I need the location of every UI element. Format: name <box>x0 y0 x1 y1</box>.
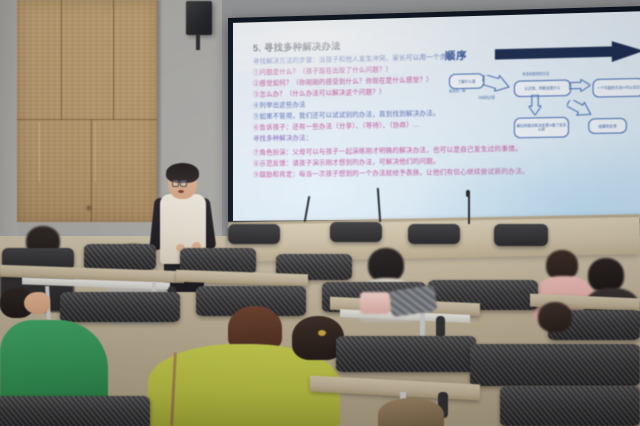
attendee-hand <box>24 292 50 314</box>
desk-bracket <box>436 316 445 338</box>
lecture-hall-photo: 5. 寻找多种解决办法 寻找解决方法的步骤：当孩子和他人发生冲突、家长可以用一个… <box>0 0 640 426</box>
attendee-head <box>378 398 444 426</box>
diagram-label: 顺序 <box>445 47 468 63</box>
diagram-caption: 中间的过程 <box>478 94 495 99</box>
slide-line: 寻找多种解决办法： <box>253 135 312 143</box>
seat-back <box>0 396 150 426</box>
diagram-caption: 原本的一种 <box>449 88 466 93</box>
block-arrow-down-icon <box>529 95 542 116</box>
slide-line: ⑥告诉孩子：还有一些办法（分享）、（等待）、（协商）… <box>253 122 420 132</box>
presenter-mouth <box>178 190 184 193</box>
seat-back <box>470 344 640 386</box>
diagram-box: 结果的反馈 <box>588 118 627 134</box>
diagram-box: 认识到、判断这是什么 <box>514 79 571 97</box>
diagram-caption: 考虑和想到的方法 <box>522 71 549 77</box>
wall-left-strip <box>0 0 18 240</box>
slide-line: ⑨鼓励和肯定：每当一次孩子想到的一个办法就给予表扬，让他们有信心继续尝试新的办法… <box>253 168 529 179</box>
slide-flow-diagram: 顺序 了解什么是 认识到、判断这是什么 一个可能的方法\n可以试试 最后的做法和… <box>436 34 640 162</box>
speaker-mount <box>196 34 200 50</box>
microphone <box>468 196 470 224</box>
slide-content: 5. 寻找多种解决办法 寻找解决方法的步骤：当孩子和他人发生冲突、家长可以用一个… <box>233 11 640 221</box>
wall-speaker-icon <box>186 1 212 35</box>
slide-line: 寻找解决方法的步骤：当孩子和他人发生冲突、家长可以用一个步骤： <box>253 53 460 65</box>
slide-line: ⑧示范反馈：请孩子演示刚才想到的办法，可解决他们的问题。 <box>253 158 440 168</box>
diagram-box: 了解什么是 <box>449 73 485 89</box>
glasses-bridge <box>177 182 180 183</box>
slide-line: ③怎么办？（什么办法可以解决这个问题？） <box>253 89 386 99</box>
door-jamb-shadow <box>157 0 162 230</box>
seat-back <box>336 336 476 372</box>
large-right-arrow-icon <box>495 40 640 64</box>
seat-headrest <box>330 222 382 242</box>
slide-line: ①问题是什么？（孩子现在出现了什么问题？） <box>253 66 392 76</box>
block-arrow-icon <box>567 100 593 117</box>
block-arrow-icon <box>569 79 590 92</box>
hair-clip <box>318 330 326 336</box>
slide-line: ⑤如果不管用，我们还可以试试别的办法，直到找到解决办法。 <box>253 110 440 121</box>
microphone-head <box>466 190 470 197</box>
slide-title: 5. 寻找多种解决办法 <box>253 38 341 54</box>
slide-line: ②感觉如何？（你刚刚的感受到什么？你现在是什么感觉？） <box>253 76 433 87</box>
attendee-head <box>538 302 572 332</box>
projection-screen: 5. 寻找多种解决办法 寻找解决方法的步骤：当孩子和他人发生冲突、家长可以用一个… <box>228 6 640 226</box>
seat-back <box>60 292 180 322</box>
wooden-wall-panel <box>17 0 157 222</box>
seat-headrest <box>228 224 280 244</box>
seat-headrest <box>408 224 460 244</box>
glasses-icon <box>180 180 187 187</box>
pink-item-on-desk <box>360 292 390 314</box>
attendee-head <box>368 248 404 282</box>
block-arrow-icon <box>482 75 509 92</box>
diagram-box: 最后的做法和决定是\n做了会怎么样 <box>514 117 569 139</box>
slide-line: ④列举出这些办法 <box>253 101 306 109</box>
seat-headrest <box>494 224 548 246</box>
seat-back <box>84 244 156 270</box>
attendee-head <box>588 258 624 292</box>
diagram-box: 一个可能的方法\n可以试试 <box>593 78 640 98</box>
seat-back <box>500 386 640 426</box>
